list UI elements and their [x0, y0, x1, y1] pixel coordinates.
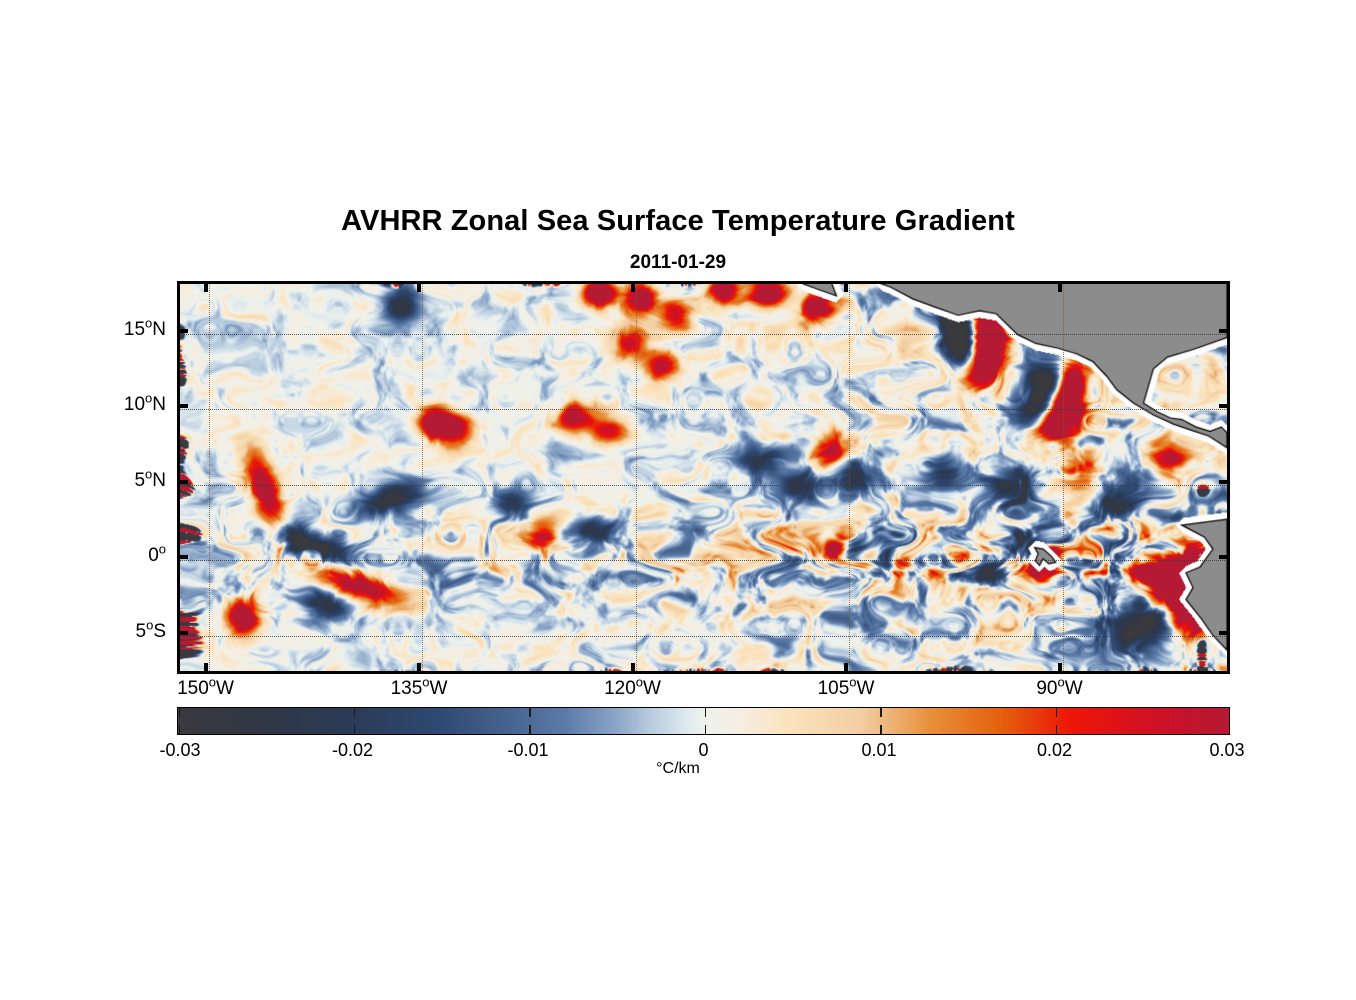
sst-gradient-heatmap — [180, 284, 1227, 671]
ylabel-15n-hemi: N — [152, 319, 166, 340]
ylabel-10n: 10oN — [46, 394, 166, 416]
cbtick-0-bot — [705, 725, 707, 734]
gridline-lat-5n — [180, 485, 1227, 486]
degree-symbol-icon: o — [209, 675, 216, 690]
ytick-5n-left — [177, 480, 188, 484]
cblabel--0.03: -0.03 — [100, 740, 260, 761]
degree-symbol-icon: o — [849, 675, 856, 690]
degree-symbol-icon: o — [159, 542, 166, 557]
gridline-lon-120w — [636, 284, 637, 671]
colorbar — [177, 707, 1230, 735]
gridline-lon-150w — [209, 284, 210, 671]
degree-symbol-icon: o — [422, 675, 429, 690]
ylabel-5n: 5oN — [46, 470, 166, 492]
xlabel-135w-num: 135 — [391, 678, 423, 699]
cbtick--0.01-bot — [529, 725, 531, 734]
ylabel-0: 0o — [46, 545, 166, 567]
ytick-5s-right — [1219, 631, 1230, 635]
xlabel-120w-hemi: W — [643, 678, 661, 699]
xlabel-105w-num: 105 — [818, 678, 850, 699]
xtick-120w-top — [631, 281, 635, 292]
ylabel-15n: 15oN — [46, 319, 166, 341]
ytick-0-right — [1219, 555, 1230, 559]
ylabel-5n-num: 5 — [134, 470, 145, 491]
xlabel-135w-hemi: W — [430, 678, 448, 699]
ylabel-5s-hemi: S — [153, 621, 166, 642]
xtick-135w-bottom — [417, 663, 421, 674]
ytick-5n-right — [1219, 480, 1230, 484]
cbtick-0.01-top — [880, 708, 882, 717]
cblabel-0.03: 0.03 — [1147, 740, 1307, 761]
figure-canvas: AVHRR Zonal Sea Surface Temperature Grad… — [0, 0, 1356, 1000]
cbtick-0.02-bot — [1056, 725, 1058, 734]
xlabel-90w-hemi: W — [1065, 678, 1083, 699]
ylabel-10n-hemi: N — [152, 394, 166, 415]
ylabel-5n-hemi: N — [152, 470, 166, 491]
xlabel-150w-num: 150 — [177, 678, 209, 699]
ytick-15n-right — [1219, 329, 1230, 333]
xlabel-90w: 90oW — [990, 678, 1130, 700]
xtick-135w-top — [417, 281, 421, 292]
cbtick-0-top — [705, 708, 707, 717]
ylabel-5s-num: 5 — [136, 621, 147, 642]
ytick-5s-left — [177, 631, 188, 635]
cblabel-0.02: 0.02 — [975, 740, 1135, 761]
gridline-lon-90w — [1063, 284, 1064, 671]
xlabel-90w-num: 90 — [1036, 678, 1057, 699]
cblabel-0: 0 — [624, 740, 784, 761]
gridline-lat-5s — [180, 636, 1227, 637]
gridline-lat-0 — [180, 560, 1227, 561]
xlabel-135w: 135oW — [349, 678, 489, 700]
ytick-10n-right — [1219, 404, 1230, 408]
ylabel-0-num: 0 — [148, 545, 159, 566]
degree-symbol-icon: o — [636, 675, 643, 690]
xtick-120w-bottom — [631, 663, 635, 674]
xlabel-105w: 105oW — [776, 678, 916, 700]
ytick-10n-left — [177, 404, 188, 408]
cbtick--0.02-bot — [354, 725, 356, 734]
xlabel-105w-hemi: W — [857, 678, 875, 699]
gridline-lon-105w — [849, 284, 850, 671]
ylabel-15n-num: 15 — [124, 319, 145, 340]
gridline-lon-135w — [422, 284, 423, 671]
cbtick--0.01-top — [529, 708, 531, 717]
xtick-150w-bottom — [204, 663, 208, 674]
cbtick--0.03-top — [179, 708, 181, 717]
cbtick-0.01-bot — [880, 725, 882, 734]
xlabel-120w-num: 120 — [604, 678, 636, 699]
ytick-15n-left — [177, 329, 188, 333]
xlabel-120w: 120oW — [563, 678, 703, 700]
ytick-0-left — [177, 555, 188, 559]
ylabel-5s: 5oS — [46, 621, 166, 643]
xlabel-150w: 150oW — [136, 678, 276, 700]
xtick-150w-top — [204, 281, 208, 292]
map-plot-area — [177, 281, 1230, 674]
page-title: AVHRR Zonal Sea Surface Temperature Grad… — [0, 205, 1356, 238]
xtick-90w-bottom — [1058, 663, 1062, 674]
xtick-105w-top — [844, 281, 848, 292]
gridline-lat-15n — [180, 334, 1227, 335]
colorbar-gradient — [178, 708, 1229, 734]
cbtick--0.03-bot — [179, 725, 181, 734]
gridline-lat-10n — [180, 409, 1227, 410]
cblabel--0.02: -0.02 — [273, 740, 433, 761]
xlabel-150w-hemi: W — [216, 678, 234, 699]
cbtick-0.02-top — [1056, 708, 1058, 717]
cbtick--0.02-top — [354, 708, 356, 717]
chart-subtitle-date: 2011-01-29 — [0, 252, 1356, 274]
cblabel-0.01: 0.01 — [799, 740, 959, 761]
cblabel--0.01: -0.01 — [448, 740, 608, 761]
xtick-105w-bottom — [844, 663, 848, 674]
ylabel-10n-num: 10 — [124, 394, 145, 415]
colorbar-unit-label: °C/km — [0, 760, 1356, 778]
xtick-90w-top — [1058, 281, 1062, 292]
